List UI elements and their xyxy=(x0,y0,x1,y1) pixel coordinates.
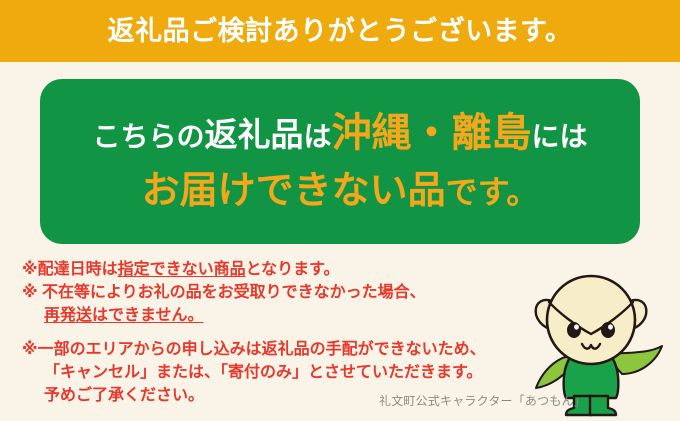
note-line: 再発送はできません。 xyxy=(22,304,582,327)
restriction-line-1-particle: は xyxy=(303,121,331,152)
note-spacer xyxy=(22,327,582,338)
restriction-line-1-region: 沖縄・離島 xyxy=(332,111,532,155)
note-marker: ※ xyxy=(22,284,42,301)
restriction-line-1-suffix: には xyxy=(532,121,588,152)
note-text: 予めご了承ください。 xyxy=(44,387,204,404)
shipping-restriction-banner: 返礼品ご検討ありがとうございます。 こちらの返礼品は沖縄・離島には お届けできな… xyxy=(0,0,680,421)
restriction-line-1-prefix: こちらの xyxy=(92,121,204,152)
note-line: 「キャンセル」または、「寄付のみ」とさせていただきます。 xyxy=(22,361,582,384)
note-marker: ※ xyxy=(22,261,38,278)
note-text: 不在等によりお礼の品をお受取りできなかった場合、 xyxy=(42,284,426,301)
restriction-line-2-main: お届けできない品 xyxy=(142,170,446,212)
note-line: ※一部のエリアからの申し込みは返礼品の手配ができないため、 xyxy=(22,338,582,361)
restriction-line-1-item: 返礼品 xyxy=(204,116,303,153)
header-title: 返礼品ご検討ありがとうございます。 xyxy=(108,18,573,45)
notes-list: ※配達日時は指定できない商品となります。※ 不在等によりお礼の品をお受取りできな… xyxy=(22,258,582,407)
note-emphasis: 指定できない商品 xyxy=(118,261,246,278)
note-line: ※ 不在等によりお礼の品をお受取りできなかった場合、 xyxy=(22,281,582,304)
note-marker: ※ xyxy=(22,341,38,358)
note-text: 配達日時は xyxy=(38,261,118,278)
note-emphasis: 再発送はできません。 xyxy=(44,307,204,324)
restriction-line-2-tail: です。 xyxy=(446,174,539,210)
mascot-caption: 礼文町公式キャラクター「あつもん」 xyxy=(379,392,586,409)
restriction-line-1: こちらの返礼品は沖縄・離島には xyxy=(92,111,587,155)
restriction-line-2: お届けできない品です。 xyxy=(142,171,539,213)
header-bar: 返礼品ご検討ありがとうございます。 xyxy=(0,0,680,62)
note-text: となります。 xyxy=(246,261,340,278)
note-line: ※配達日時は指定できない商品となります。 xyxy=(22,258,582,281)
note-text: 一部のエリアからの申し込みは返礼品の手配ができないため、 xyxy=(38,341,486,358)
restriction-panel: こちらの返礼品は沖縄・離島には お届けできない品です。 xyxy=(40,79,640,244)
note-text: 「キャンセル」または、「寄付のみ」とさせていただきます。 xyxy=(44,364,482,381)
